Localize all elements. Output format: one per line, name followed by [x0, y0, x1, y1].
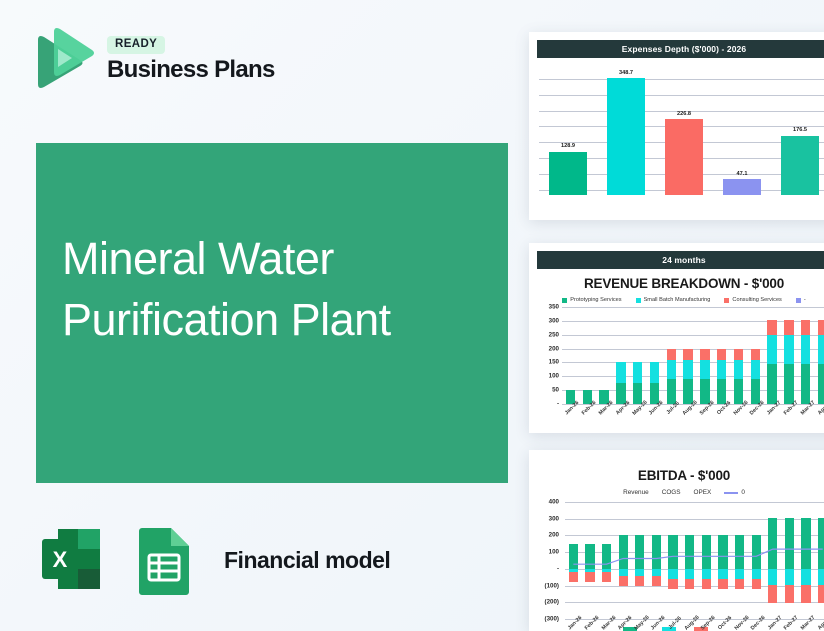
- bar-segment-cogs: [752, 569, 761, 579]
- bar-segment-cogs: [735, 569, 744, 579]
- table-row: [764, 307, 781, 404]
- bar-segment-cogs: [801, 569, 810, 585]
- chart-card-expenses[interactable]: Expenses Depth ($'000) - 2026 128.9348.7…: [529, 32, 824, 220]
- x-tick: Mar-26: [598, 619, 615, 631]
- table-row: [698, 502, 715, 619]
- microsoft-excel-icon[interactable]: X: [36, 521, 114, 599]
- bar-segment: [717, 349, 726, 361]
- bar-value-label: 128.9: [561, 143, 575, 149]
- ebitda-y-axis: 400300200100-(100)(200)(300): [535, 502, 561, 619]
- bar-segment-revenue: [668, 535, 677, 569]
- bar-segment-revenue: [569, 544, 578, 569]
- bar-segment: [801, 335, 810, 364]
- bar-segment: [751, 360, 760, 379]
- stacked-bar: [734, 307, 743, 404]
- stacked-bar: [616, 307, 625, 404]
- table-row: [797, 307, 814, 404]
- bar-segment-opex: [735, 579, 744, 589]
- bar-segment-cogs: [668, 569, 677, 579]
- bar-segment-opex: [785, 585, 794, 603]
- bar-segment-opex: [818, 585, 824, 603]
- legend-swatch: [636, 298, 641, 303]
- y-tick-label: -: [557, 401, 559, 408]
- bar-segment-opex: [768, 585, 777, 603]
- legend-item: Revenue: [623, 489, 649, 496]
- expenses-plot-area: 128.9348.7226.847.1176.5: [539, 68, 824, 195]
- x-tick: Aug-26: [681, 619, 698, 631]
- revenue-plot-area: 35030025020015010050-: [535, 307, 824, 404]
- bar-segment: [734, 349, 743, 361]
- legend-label: Prototyping Services: [570, 297, 621, 303]
- google-sheets-icon[interactable]: [133, 523, 199, 597]
- bar-value-label: 226.8: [677, 111, 691, 117]
- bar-segment-revenue: [768, 518, 777, 569]
- table-row: [632, 502, 649, 619]
- bar-segment-opex: [602, 572, 611, 582]
- table-row: [697, 307, 714, 404]
- table-row: [730, 307, 747, 404]
- x-tick: Dec-26: [748, 619, 765, 631]
- x-tick: Oct-26: [715, 619, 732, 631]
- bar-segment-opex: [635, 576, 644, 586]
- table-row: [798, 502, 815, 619]
- legend-label: Revenue: [623, 489, 649, 496]
- bar-segment: [650, 362, 659, 383]
- table-row: [612, 307, 629, 404]
- x-tick: Sep-26: [697, 404, 714, 430]
- legend-label: Consulting Services: [732, 297, 781, 303]
- bar-segment-cogs: [718, 569, 727, 579]
- bar-segment-revenue: [801, 518, 810, 569]
- x-tick: Mar-26: [596, 404, 613, 430]
- y-tick-label: 350: [549, 304, 559, 311]
- bar-segment: [616, 383, 625, 404]
- table-row: [663, 307, 680, 404]
- bar: [549, 152, 586, 195]
- table-row: [629, 307, 646, 404]
- bar-segment-opex: [569, 572, 578, 582]
- y-tick-label: 200: [549, 345, 559, 352]
- legend-item: Prototyping Services: [562, 297, 621, 303]
- x-tick: Jun-26: [646, 404, 663, 430]
- y-tick-label: (200): [545, 599, 559, 606]
- bar-segment: [616, 362, 625, 383]
- legend-label: 0: [741, 489, 745, 496]
- bar-segment-opex: [619, 576, 628, 586]
- legend-item: Small Batch Manufacturing: [636, 297, 711, 303]
- bar-segment: [801, 364, 810, 404]
- x-tick: Mar-27: [798, 619, 815, 631]
- x-tick: Mar-27: [797, 404, 814, 430]
- bar-segment: [751, 349, 760, 361]
- bar-segment-revenue: [752, 535, 761, 569]
- x-tick: Sep-26: [698, 619, 715, 631]
- bar-segment-cogs: [768, 569, 777, 585]
- bar-segment: [700, 379, 709, 404]
- table-row: [781, 307, 798, 404]
- x-tick: Jan-27: [765, 619, 782, 631]
- bar-segment: [717, 360, 726, 379]
- bar-segment-revenue: [602, 544, 611, 569]
- table-row: 348.7: [597, 68, 655, 195]
- x-tick: Nov-26: [731, 619, 748, 631]
- bar-segment-opex: [668, 579, 677, 589]
- legend-label: -: [804, 297, 806, 303]
- bar-segment-opex: [702, 579, 711, 589]
- legend-swatch: [724, 298, 729, 303]
- legend-item: 0: [724, 489, 745, 496]
- bar-segment: [784, 335, 793, 364]
- y-tick-label: 400: [549, 499, 559, 506]
- y-tick-label: (300): [545, 616, 559, 623]
- legend-item: OPEX: [694, 489, 712, 496]
- table-row: 128.9: [539, 68, 597, 195]
- table-row: [646, 307, 663, 404]
- table-row: [680, 307, 697, 404]
- bar: [607, 78, 644, 195]
- bar-segment-cogs: [619, 569, 628, 576]
- table-row: [579, 307, 596, 404]
- table-row: [562, 307, 579, 404]
- ready-badge: READY: [107, 36, 165, 54]
- x-tick: Oct-26: [713, 404, 730, 430]
- bar-segment: [767, 320, 776, 335]
- x-tick: Jan-26: [565, 619, 582, 631]
- stacked-bar: [599, 307, 608, 404]
- y-tick-label: -: [557, 565, 559, 572]
- revenue-chart-title: REVENUE BREAKDOWN - $'000: [529, 276, 824, 291]
- bar-value-label: 348.7: [619, 70, 633, 76]
- bar-segment: [700, 349, 709, 361]
- bar-segment: [751, 379, 760, 404]
- bar-segment-revenue: [702, 535, 711, 569]
- bar-segment: [734, 360, 743, 379]
- table-row: [596, 307, 613, 404]
- x-tick: Feb-26: [579, 404, 596, 430]
- y-tick-label: 300: [549, 317, 559, 324]
- x-tick: Apr-27: [814, 619, 824, 631]
- x-tick: Jul-26: [665, 619, 682, 631]
- table-row: [615, 502, 632, 619]
- x-tick: May-26: [629, 404, 646, 430]
- table-row: [565, 502, 582, 619]
- bar-segment-opex: [652, 576, 661, 586]
- legend-label: COGS: [662, 489, 681, 496]
- bar-segment: [633, 362, 642, 383]
- revenue-y-axis: 35030025020015010050-: [535, 307, 561, 404]
- table-row: [748, 502, 765, 619]
- bar-segment: [818, 364, 824, 404]
- bar-segment-revenue: [619, 535, 628, 569]
- x-tick: Apr-26: [612, 404, 629, 430]
- legend-item: -: [796, 297, 806, 303]
- y-tick-label: 300: [549, 515, 559, 522]
- bar-segment-cogs: [635, 569, 644, 576]
- bar-segment: [784, 364, 793, 404]
- table-row: [765, 502, 782, 619]
- x-tick: Jan-27: [764, 404, 781, 430]
- brand-name: Business Plans: [107, 57, 275, 83]
- x-tick: Feb-27: [781, 404, 798, 430]
- x-tick: Nov-26: [730, 404, 747, 430]
- stacked-bar: [667, 307, 676, 404]
- table-row: [814, 502, 824, 619]
- table-row: [665, 502, 682, 619]
- bar-segment: [700, 360, 709, 379]
- brand-logo[interactable]: READY Business Plans: [30, 26, 275, 94]
- bar-segment-opex: [685, 579, 694, 589]
- bar-segment-cogs: [685, 569, 694, 579]
- bar-segment-opex: [752, 579, 761, 589]
- legend-item: Consulting Services: [724, 297, 781, 303]
- x-tick: Jan-26: [562, 404, 579, 430]
- x-tick: Feb-26: [582, 619, 599, 631]
- stacked-bar: [700, 307, 709, 404]
- table-row: [731, 502, 748, 619]
- table-row: 226.8: [655, 68, 713, 195]
- bar-segment-cogs: [702, 569, 711, 579]
- bar-segment: [801, 320, 810, 335]
- bar-segment: [717, 379, 726, 404]
- bar-segment: [734, 379, 743, 404]
- stacked-bar: [717, 307, 726, 404]
- page-title: Mineral Water Purification Plant: [62, 228, 462, 350]
- svg-text:X: X: [53, 547, 68, 572]
- stacked-bar: [633, 307, 642, 404]
- format-label: Financial model: [224, 547, 390, 574]
- table-row: [713, 307, 730, 404]
- bar: [781, 136, 818, 195]
- bar-segment-revenue: [635, 535, 644, 569]
- legend-swatch: [724, 492, 738, 494]
- bar-segment: [784, 320, 793, 335]
- bar-segment: [667, 349, 676, 361]
- expenses-chart-header: Expenses Depth ($'000) - 2026: [537, 40, 824, 58]
- bar-segment-opex: [585, 572, 594, 582]
- revenue-chart-header: 24 months: [537, 251, 824, 269]
- bar-segment-revenue: [585, 544, 594, 569]
- stacked-bar: [566, 307, 575, 404]
- x-tick: Apr-26: [615, 619, 632, 631]
- table-row: [781, 502, 798, 619]
- x-tick: Apr-27: [814, 404, 824, 430]
- bar-segment: [767, 335, 776, 364]
- ebitda-plot-area: 400300200100-(100)(200)(300): [535, 502, 824, 619]
- bar-value-label: 176.5: [793, 127, 807, 133]
- bar-segment: [683, 360, 692, 379]
- table-row: [648, 502, 665, 619]
- bar-segment-revenue: [785, 518, 794, 569]
- bar-segment: [767, 364, 776, 404]
- revenue-legend: Prototyping ServicesSmall Batch Manufact…: [529, 297, 824, 303]
- bar-segment-revenue: [818, 518, 824, 569]
- bar-segment: [818, 320, 824, 335]
- x-tick: Feb-27: [781, 619, 798, 631]
- stacked-bar: [784, 307, 793, 404]
- table-row: [715, 502, 732, 619]
- bar-segment-opex: [801, 585, 810, 603]
- y-tick-label: 50: [552, 387, 559, 394]
- stacked-bar: [801, 307, 810, 404]
- bar-segment: [633, 383, 642, 404]
- stacked-bar: [818, 307, 824, 404]
- stacked-bar: [767, 307, 776, 404]
- chart-card-revenue-breakdown[interactable]: 24 months REVENUE BREAKDOWN - $'000 Prot…: [529, 243, 824, 433]
- chart-card-ebitda[interactable]: EBITDA - $'000 RevenueCOGSOPEX0 40030020…: [529, 450, 824, 631]
- y-tick-label: (100): [545, 582, 559, 589]
- legend-label: Small Batch Manufacturing: [644, 297, 711, 303]
- bar-segment-cogs: [652, 569, 661, 576]
- table-row: [681, 502, 698, 619]
- ebitda-chart-title: EBITDA - $'000: [529, 468, 824, 483]
- play-triangle-logo-icon: [30, 26, 94, 94]
- table-row: [598, 502, 615, 619]
- bar-value-label: 47.1: [737, 171, 748, 177]
- expenses-bars: 128.9348.7226.847.1176.5: [539, 68, 824, 195]
- legend-label: OPEX: [694, 489, 712, 496]
- stacked-bar: [751, 307, 760, 404]
- bar-segment-cogs: [785, 569, 794, 585]
- ebitda-x-axis: Jan-26Feb-26Mar-26Apr-26May-26Jun-26Jul-…: [565, 619, 824, 631]
- legend-item: COGS: [662, 489, 681, 496]
- bar-segment-revenue: [718, 535, 727, 569]
- y-tick-label: 150: [549, 359, 559, 366]
- ebitda-bars: [565, 502, 824, 619]
- ebitda-legend: RevenueCOGSOPEX0: [529, 489, 824, 496]
- bar-segment: [683, 349, 692, 361]
- legend-swatch: [796, 298, 801, 303]
- legend-swatch: [562, 298, 567, 303]
- bar-segment: [818, 335, 824, 364]
- table-row: [814, 307, 824, 404]
- x-tick: Aug-26: [680, 404, 697, 430]
- stacked-bar: [683, 307, 692, 404]
- y-tick-label: 100: [549, 373, 559, 380]
- bar-segment-opex: [718, 579, 727, 589]
- y-tick-label: 200: [549, 532, 559, 539]
- revenue-x-axis: Jan-26Feb-26Mar-26Apr-26May-26Jun-26Jul-…: [562, 404, 824, 430]
- table-row: [747, 307, 764, 404]
- bar-segment-revenue: [652, 535, 661, 569]
- x-tick: May-26: [632, 619, 649, 631]
- x-tick: Dec-26: [747, 404, 764, 430]
- y-tick-label: 100: [549, 549, 559, 556]
- x-tick: Jun-26: [648, 619, 665, 631]
- stacked-bar: [650, 307, 659, 404]
- format-row: X Financial model: [36, 521, 390, 599]
- bar-segment: [683, 379, 692, 404]
- bar-segment-revenue: [735, 535, 744, 569]
- stacked-bar: [583, 307, 592, 404]
- bar-segment: [667, 360, 676, 379]
- bar-segment: [667, 379, 676, 404]
- y-tick-label: 250: [549, 331, 559, 338]
- bar-segment-revenue: [685, 535, 694, 569]
- bar: [665, 119, 702, 195]
- table-row: 176.5: [771, 68, 824, 195]
- x-tick: Jul-26: [663, 404, 680, 430]
- bar: [723, 179, 760, 195]
- bar-segment-cogs: [818, 569, 824, 585]
- table-row: 47.1: [713, 68, 771, 195]
- table-row: [582, 502, 599, 619]
- revenue-bars: [562, 307, 824, 404]
